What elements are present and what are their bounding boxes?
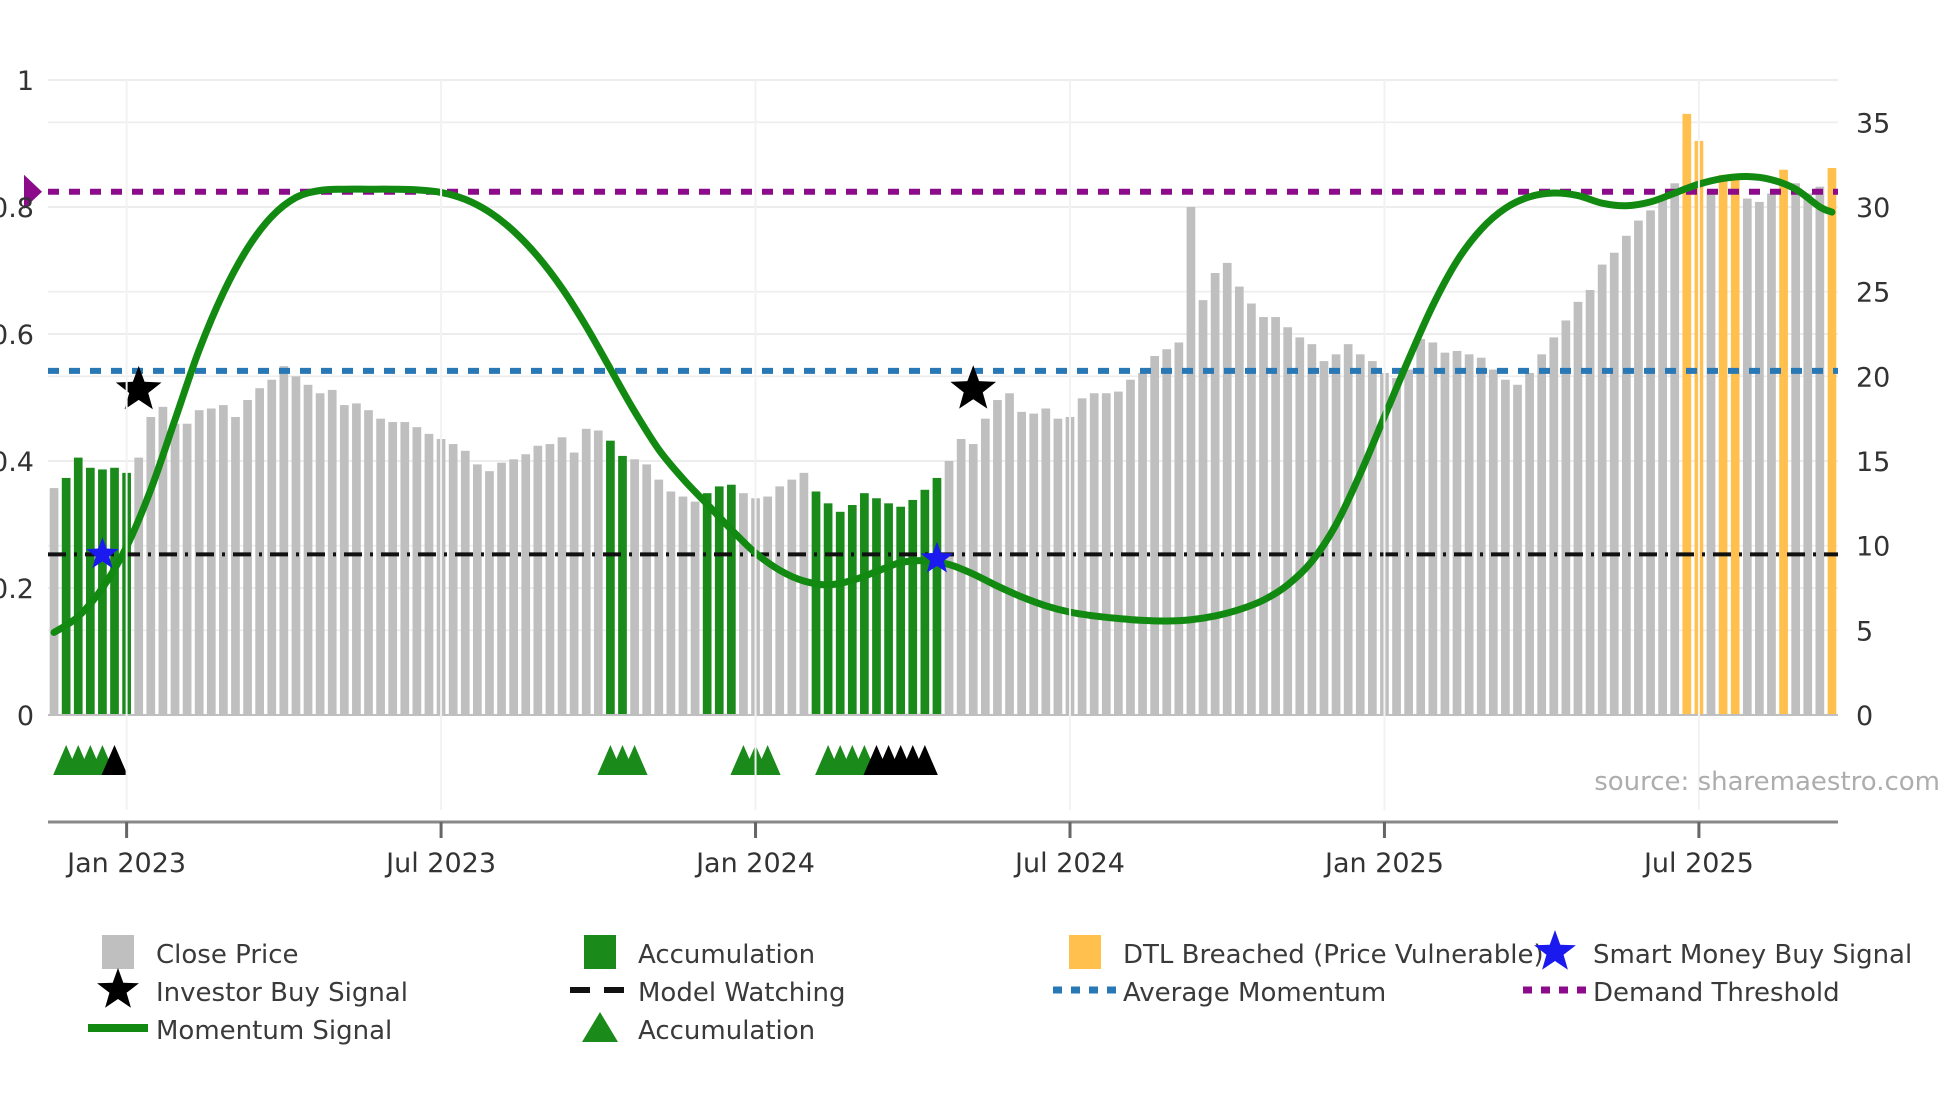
price-bar [195,410,204,715]
x-axis-tick-label: Jul 2024 [1013,848,1125,879]
price-bar [171,424,180,715]
price-bar [1779,170,1788,715]
accumulation-triangles [53,745,938,775]
price-bar [969,444,978,715]
price-bar [497,463,506,715]
price-bar [521,454,530,715]
price-bar [1054,419,1063,715]
price-bar [908,500,917,715]
legend-momentum-signal[interactable]: Momentum Signal [88,1016,392,1046]
legend-close-price[interactable]: Close Price [102,935,299,970]
price-bar [267,380,276,715]
price-bar [1356,354,1365,715]
price-bar [461,451,470,715]
price-bar [812,491,821,715]
legend-item-label: DTL Breached (Price Vulnerable) [1123,940,1544,970]
price-bar [824,503,833,715]
price-bar [957,439,966,715]
price-bar [1562,320,1571,715]
price-bar [654,480,663,715]
price-bar [933,478,942,715]
price-bar [1102,393,1111,715]
x-axis-tick-label: Jan 2024 [694,848,815,879]
right-axis-tick-label: 15 [1856,447,1890,478]
right-axis-tick-label: 10 [1856,532,1890,563]
legend-accumulation-bar[interactable]: Accumulation [584,935,815,970]
price-bar [546,444,555,715]
price-bar [727,485,736,715]
left-axis-tick-label: 0 [17,701,34,732]
price-bar [1501,380,1510,715]
price-bar [642,464,651,715]
price-bar [981,419,990,715]
price-bar [582,429,591,715]
price-bar [787,480,796,715]
financial-chart: 00.20.40.60.81 05101520253035 Jan 2023Ju… [0,0,1960,1102]
price-bar [1344,344,1353,715]
price-bar [1791,183,1800,715]
price-bar [1743,199,1752,715]
price-bar [413,427,422,715]
legend-model-watching[interactable]: Model Watching [570,978,845,1008]
price-bar [679,497,688,715]
price-bar [1295,337,1304,715]
price-bar [146,417,155,715]
price-bar [1731,180,1740,715]
price-bar [836,512,845,715]
price-bar [1574,302,1583,715]
price-bar [1489,370,1498,715]
price-bar [763,497,772,715]
price-bar [993,400,1002,715]
price-bar [1078,398,1087,715]
price-bar [606,441,615,715]
price-bar [1537,354,1546,715]
price-bar [110,468,119,715]
price-bar [1199,300,1208,715]
left-axis-tick-label: 0.4 [0,447,34,478]
price-bar [1670,183,1679,715]
price-bar [1138,373,1147,715]
right-axis-tick-label: 0 [1856,701,1873,732]
left-axis-tick-label: 1 [17,66,34,97]
price-bar [1719,175,1728,715]
legend-smart-money[interactable]: Smart Money Buy Signal [1534,930,1912,970]
right-axis-tick-label: 30 [1856,193,1890,224]
right-axis-tick-label: 35 [1856,108,1890,139]
price-bar [1465,354,1474,715]
price-bar [1211,273,1220,715]
price-bar [1223,263,1232,715]
legend-square-icon [1069,935,1101,969]
price-bar [1416,339,1425,715]
price-bar [691,502,700,715]
price-bar [292,376,301,715]
price-bar [74,458,83,715]
price-bar [618,456,627,715]
price-bar [1308,344,1317,715]
price-bar [1634,221,1643,715]
price-bar [1658,197,1667,715]
price-bar [255,388,264,715]
price-bar [183,424,192,715]
close-price-bars [50,114,1837,715]
price-bar [1622,236,1631,715]
price-bar [279,366,288,715]
price-bar [86,468,95,715]
price-bar [1816,187,1825,715]
legend-square-icon [102,935,134,969]
price-bar [860,493,869,715]
price-bar [630,459,639,715]
legend-item-label: Model Watching [638,978,845,1008]
price-bar [558,437,567,715]
legend-item-label: Average Momentum [1123,978,1386,1008]
price-bar [775,486,784,715]
price-bar [896,507,905,715]
price-bar [1162,349,1171,715]
price-bar [570,453,579,715]
price-bar [1041,409,1050,715]
price-bar [1598,265,1607,715]
price-bar [376,419,385,715]
price-bar [1803,193,1812,715]
price-bar [1392,378,1401,715]
price-bar [1549,337,1558,715]
price-bar [1682,114,1691,715]
price-bar [1767,193,1776,715]
price-bar [848,505,857,715]
legend-item-label: Momentum Signal [156,1016,392,1046]
price-bar [340,405,349,715]
x-axis-tick-label: Jul 2025 [1642,848,1754,879]
price-bar [1404,370,1413,715]
legend-accumulation-triangle[interactable]: Accumulation [582,1012,815,1046]
legend-dtl-breached[interactable]: DTL Breached (Price Vulnerable) [1069,935,1544,970]
price-bar [1707,190,1716,715]
legend-item-label: Close Price [156,940,299,970]
price-bar [1586,290,1595,715]
price-bar [364,410,373,715]
price-bar [509,459,518,715]
price-bar [219,405,228,715]
price-bar [1477,358,1486,715]
x-axis-tick-label: Jan 2023 [65,848,186,879]
price-bar [243,400,252,715]
price-bar [400,422,409,715]
x-axis-labels: Jan 2023Jul 2023Jan 2024Jul 2024Jan 2025… [65,848,1754,879]
price-bar [1150,356,1159,715]
price-bar [425,434,434,715]
price-bar [1428,342,1437,715]
right-axis-tick-label: 5 [1856,616,1873,647]
price-bar [1525,373,1534,715]
legend-investor-buy[interactable]: Investor Buy Signal [97,968,408,1008]
price-bar [1610,253,1619,715]
price-bar [884,503,893,715]
left-axis-labels: 00.20.40.60.81 [0,66,34,732]
price-bar [304,385,313,715]
chart-page: 00.20.40.60.81 05101520253035 Jan 2023Ju… [0,0,1960,1102]
right-axis-tick-label: 20 [1856,362,1890,393]
price-bar [449,444,458,715]
price-bar [352,403,361,715]
price-bar [50,488,59,715]
price-bar [667,491,676,715]
price-bar [388,422,397,715]
price-bar [800,473,809,715]
price-bar [1126,380,1135,715]
price-bar [134,458,143,715]
left-axis-tick-label: 0.2 [0,574,34,605]
legend-triangle-icon [582,1012,618,1042]
price-bar [1235,287,1244,715]
legend-item-label: Accumulation [638,940,815,970]
source-attribution: source: sharemaestro.com [1594,767,1940,797]
legend-star-icon [97,968,139,1008]
price-bar [1283,327,1292,715]
price-bar [1755,202,1764,715]
price-bar [1441,353,1450,715]
legend-item-label: Accumulation [638,1016,815,1046]
price-bar [594,431,603,715]
price-bar [485,471,494,715]
price-bar [533,446,542,715]
price-bar [1368,361,1377,715]
right-axis-tick-label: 25 [1856,278,1890,309]
price-bar [921,490,930,715]
legend-demand-threshold[interactable]: Demand Threshold [1523,978,1840,1008]
price-bar [1174,342,1183,715]
x-axis-tick-label: Jul 2023 [384,848,496,879]
price-bar [473,464,482,715]
legend-item-label: Investor Buy Signal [156,978,408,1008]
price-bar [1453,351,1462,715]
price-bar [62,478,71,715]
price-bar [231,417,240,715]
price-bar [703,493,712,715]
chart-legend: Close PriceAccumulationDTL Breached (Pri… [88,930,1912,1046]
price-bar [1271,317,1280,715]
price-bar [1187,207,1196,715]
left-axis-tick-label: 0.8 [0,193,34,224]
legend-square-icon [584,935,616,969]
legend-item-label: Demand Threshold [1593,978,1840,1008]
price-bar [739,493,748,715]
legend-item-label: Smart Money Buy Signal [1593,940,1912,970]
price-bar [1247,304,1256,715]
price-bar [207,409,216,715]
price-bar [872,498,881,715]
right-axis-labels: 05101520253035 [1856,108,1890,732]
price-bar [1029,414,1038,715]
price-bar [945,461,954,715]
legend-average-momentum[interactable]: Average Momentum [1053,978,1386,1008]
x-axis-tick-label: Jan 2025 [1323,848,1444,879]
left-axis-tick-label: 0.6 [0,320,34,351]
price-bar [1646,210,1655,715]
price-bar [1259,317,1268,715]
price-bar [1828,168,1837,715]
price-bar [1513,385,1522,715]
price-bar [1017,412,1026,715]
